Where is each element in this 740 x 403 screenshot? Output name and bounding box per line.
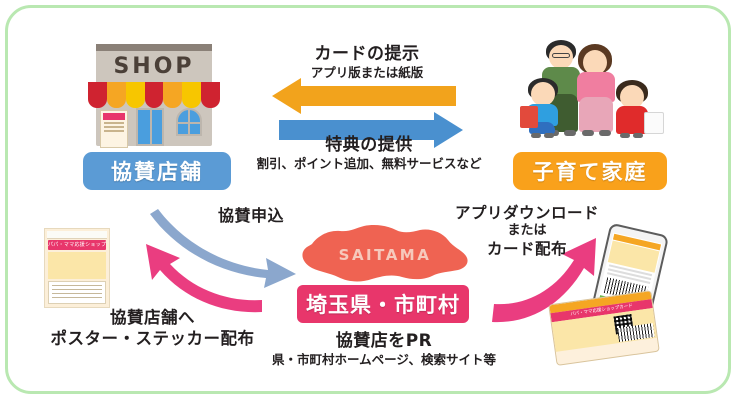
flow-pr-shops-sub: 県・市町村ホームページ、検索サイト等	[255, 352, 513, 368]
flow-label-pr-shops: 協賛店をPR 県・市町村ホームページ、検索サイト等	[255, 331, 513, 369]
shop-illustration: SHOP	[86, 38, 222, 148]
shop-awning	[88, 82, 220, 108]
flow-card-presentation-main: カードの提示	[262, 44, 472, 65]
poster-illustration: パパ・ママ応援ショップ	[44, 228, 110, 308]
flow-benefit-offer-main: 特典の提供	[238, 135, 500, 156]
flow-label-app-download: アプリダウンロード または カード配布	[432, 204, 622, 259]
flow-poster-distribution-line1: 協賛店舗へ	[35, 307, 270, 328]
flow-label-application: 協賛申込	[196, 206, 306, 226]
flow-poster-distribution-line2: ポスター・ステッカー配布	[35, 328, 270, 349]
diagram-canvas: SHOP 協賛店舗	[0, 0, 740, 403]
shop-window-poster	[100, 110, 128, 148]
flow-app-download-main2: カード配布	[432, 240, 622, 259]
flow-app-download-mid: または	[432, 223, 622, 239]
node-label-family: 子育て家庭	[513, 152, 667, 190]
flow-label-benefit-offer: 特典の提供 割引、ポイント追加、無料サービスなど	[238, 135, 500, 173]
family-illustration	[520, 34, 670, 148]
node-label-government: 埼玉県・市町村	[297, 285, 469, 323]
flow-application-main: 協賛申込	[196, 206, 306, 226]
poster-title-band: パパ・ママ応援ショップ	[48, 240, 106, 250]
shop-window	[176, 108, 202, 136]
flow-app-download-main: アプリダウンロード	[432, 204, 622, 223]
flow-label-card-presentation: カードの提示 アプリ版または紙版	[262, 44, 472, 82]
flow-pr-shops-main: 協賛店をPR	[255, 331, 513, 352]
node-label-shop: 協賛店舗	[83, 152, 231, 190]
arrow-card-presentation	[272, 78, 456, 114]
flow-card-presentation-sub: アプリ版または紙版	[262, 65, 472, 81]
shop-door	[136, 108, 164, 146]
flow-benefit-offer-sub: 割引、ポイント追加、無料サービスなど	[238, 156, 500, 172]
flow-label-poster-distribution: 協賛店舗へ ポスター・ステッカー配布	[35, 307, 270, 350]
shop-sign-text: SHOP	[96, 52, 212, 80]
